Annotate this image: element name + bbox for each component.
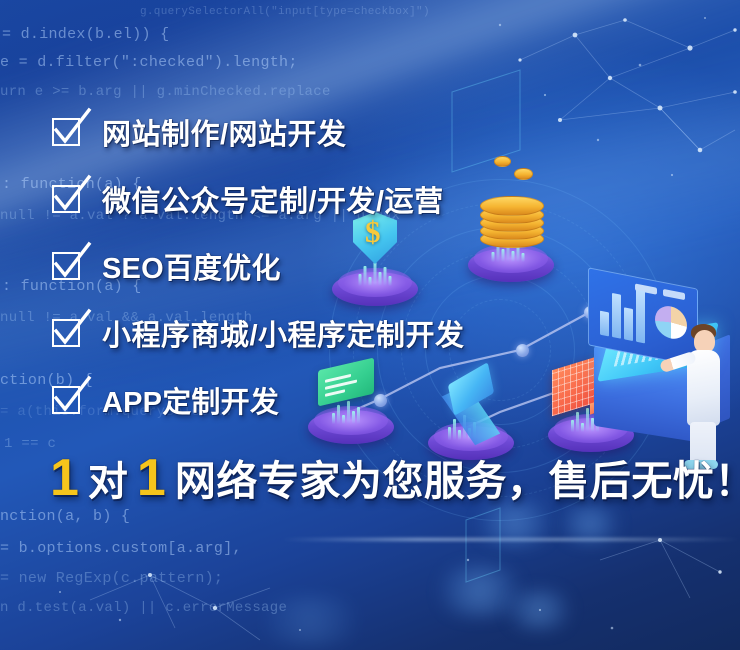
- feature-item-wechat[interactable]: 微信公众号定制/开发/运营: [52, 165, 692, 232]
- checked-box-icon[interactable]: [52, 319, 80, 347]
- checked-box-icon[interactable]: [52, 118, 80, 146]
- feature-item-seo[interactable]: SEO百度优化: [52, 232, 692, 299]
- feature-item-app[interactable]: APP定制开发: [52, 366, 692, 433]
- feature-label: SEO百度优化: [102, 245, 281, 287]
- feature-label: APP定制开发: [102, 379, 279, 421]
- slogan: 1 对 1 网络专家为您服务，售后无忧！: [50, 452, 740, 504]
- slogan-separator: 对: [88, 462, 128, 502]
- feature-label: 网站制作/网站开发: [102, 111, 347, 153]
- checked-box-icon[interactable]: [52, 252, 80, 280]
- slogan-number-first: 1: [50, 452, 79, 504]
- slogan-number-second: 1: [137, 452, 166, 504]
- feature-label: 小程序商城/小程序定制开发: [102, 312, 465, 354]
- feature-label: 微信公众号定制/开发/运营: [102, 178, 444, 220]
- checked-box-icon[interactable]: [52, 386, 80, 414]
- feature-item-website[interactable]: 网站制作/网站开发: [52, 98, 692, 165]
- feature-item-miniprogram[interactable]: 小程序商城/小程序定制开发: [52, 299, 692, 366]
- checked-box-icon[interactable]: [52, 185, 80, 213]
- content-layer: 网站制作/网站开发 微信公众号定制/开发/运营 SEO百度优化: [0, 0, 740, 650]
- promo-banner: g.querySelectorAll("input[type=checkbox]…: [0, 0, 740, 650]
- slogan-text: 网络专家为您服务，售后无忧！: [175, 461, 740, 502]
- feature-list: 网站制作/网站开发 微信公众号定制/开发/运营 SEO百度优化: [52, 98, 692, 433]
